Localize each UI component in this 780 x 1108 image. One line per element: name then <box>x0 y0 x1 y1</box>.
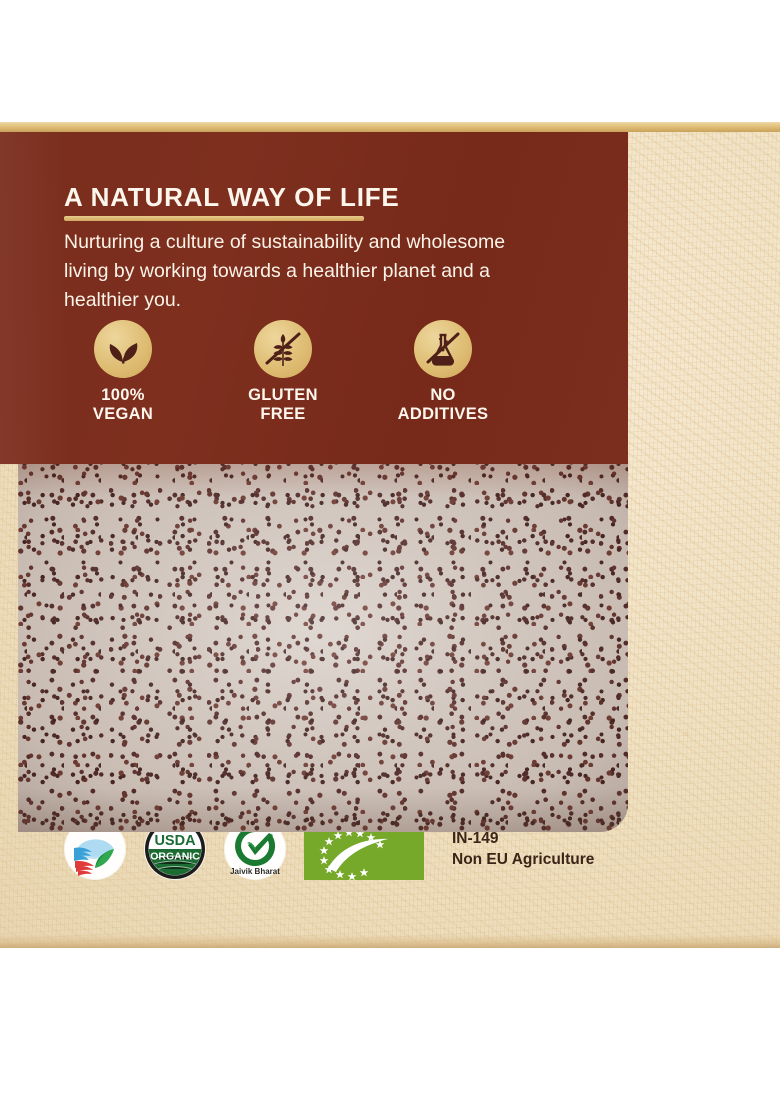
brand-banner: A NATURAL WAY OF LIFE Nurturing a cultur… <box>0 132 628 464</box>
package-sheet: A NATURAL WAY OF LIFE Nurturing a cultur… <box>0 122 780 948</box>
jaivik-bharat-label: Jaivik Bharat <box>230 867 280 876</box>
badge-circle <box>94 320 152 378</box>
badge-circle <box>414 320 472 378</box>
badge-circle <box>254 320 312 378</box>
title-underline-rule <box>64 216 364 221</box>
flask-slashed-icon <box>423 329 463 369</box>
wheat-slashed-icon <box>263 329 303 369</box>
brand-statement-text: Nurturing a culture of sustainability an… <box>64 228 534 315</box>
feature-badge-vegan: 100% VEGAN <box>64 320 182 424</box>
feature-badge-gluten-free: GLUTEN FREE <box>224 320 342 424</box>
gold-top-strip <box>0 122 780 132</box>
usda-label: USDA <box>154 833 196 849</box>
eu-control-code: IN-149 Non EU Agriculture <box>452 828 594 870</box>
feature-badge-label: GLUTEN FREE <box>224 386 342 424</box>
feature-badge-label: NO ADDITIVES <box>384 386 502 424</box>
product-photo-window <box>18 464 628 832</box>
feature-badge-no-additives: NO ADDITIVES <box>384 320 502 424</box>
page-title: A NATURAL WAY OF LIFE <box>64 182 400 213</box>
sheet-bottom-edge <box>0 934 780 948</box>
feature-badge-label: 100% VEGAN <box>64 386 182 424</box>
product-photo-shading <box>18 464 628 832</box>
feature-badge-list: 100% VEGAN <box>64 320 502 424</box>
organic-label: ORGANIC <box>150 851 200 863</box>
leaf-icon <box>104 332 142 366</box>
